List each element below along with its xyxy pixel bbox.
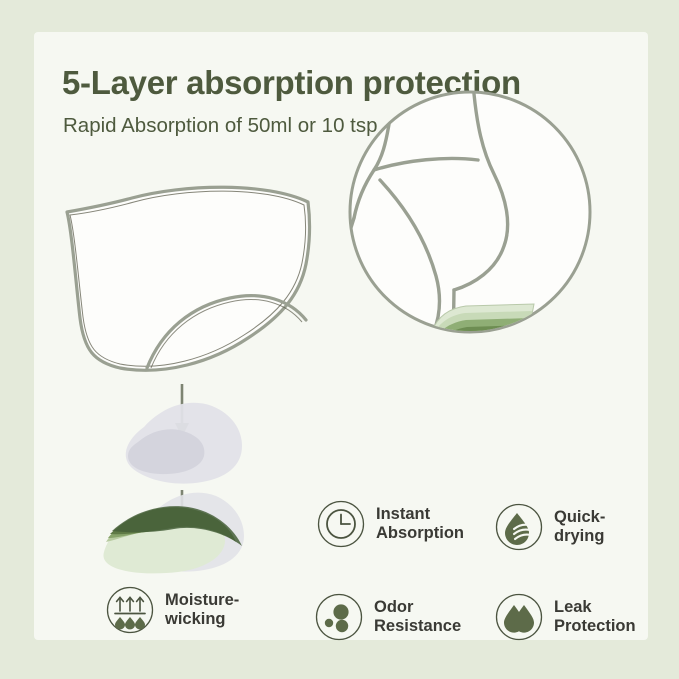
feature-label: Leak Protection <box>554 598 636 637</box>
gusset-green-layers <box>103 493 244 574</box>
pad-layers-detail <box>432 304 534 350</box>
flow-arrow-1 <box>175 384 189 437</box>
double-droplet-icon <box>495 593 543 641</box>
clock-icon <box>317 500 365 548</box>
feature-label: Instant Absorption <box>376 505 464 544</box>
feature-label: Odor Resistance <box>374 598 461 637</box>
feature-odor-resistance: Odor Resistance <box>315 593 461 641</box>
gusset-gray-layers <box>126 403 242 484</box>
infographic-root: 5-Layer absorption protection Rapid Abso… <box>0 0 679 679</box>
feature-leak-protection: Leak Protection <box>495 593 636 641</box>
flow-arrow-2 <box>175 490 189 530</box>
underwear-line-drawing <box>67 187 310 370</box>
feature-instant-absorption: Instant Absorption <box>317 500 464 548</box>
feature-quick-drying: Quick-drying <box>495 503 648 551</box>
feature-label: Quick-drying <box>554 508 648 547</box>
feature-label: Moisture- wicking <box>165 591 239 630</box>
three-dots-icon <box>315 593 363 641</box>
content-card: 5-Layer absorption protection Rapid Abso… <box>34 32 648 640</box>
page-title: 5-Layer absorption protection <box>62 64 521 102</box>
layer-absorption-flow <box>103 384 244 573</box>
feature-moisture-wicking: Moisture- wicking <box>106 586 239 634</box>
arrows-droplets-icon <box>106 586 154 634</box>
droplet-airflow-icon <box>495 503 543 551</box>
page-subtitle: Rapid Absorption of 50ml or 10 tsp <box>63 114 378 138</box>
